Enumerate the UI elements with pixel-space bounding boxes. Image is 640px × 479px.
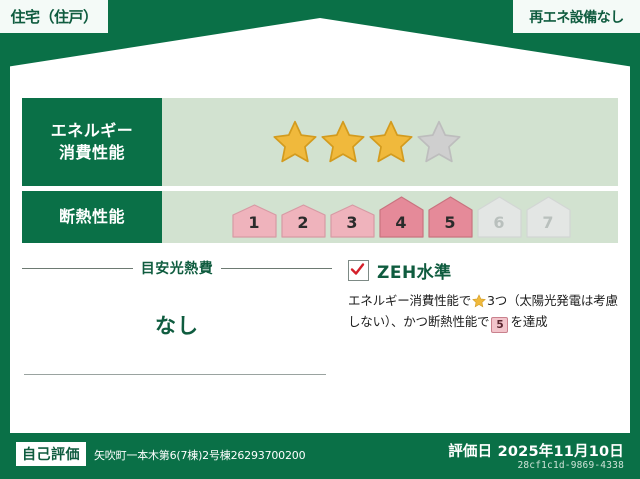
- insulation-level-5: 5: [426, 196, 474, 238]
- insulation-scale: 1234567: [230, 196, 572, 238]
- zeh-desc-level-badge: 5: [491, 317, 508, 333]
- footer: 自己評価 矢吹町一本木第6(7棟)2号棟26293700200 評価日 2025…: [0, 433, 640, 479]
- row-insulation-value: 1234567: [162, 191, 618, 243]
- zeh-block: ZEH水準 エネルギー消費性能で3つ（太陽光発電は考慮しない）、かつ断熱性能で5…: [332, 254, 618, 419]
- label-card: エネルギー 消費性能 断熱性能 1234567 目安光熱費: [10, 88, 630, 433]
- row-energy-key-line1: エネルギー: [51, 120, 134, 142]
- star-filled-icon: [368, 119, 414, 165]
- insulation-level-number: 3: [328, 213, 376, 232]
- self-evaluation-badge: 自己評価: [16, 442, 86, 466]
- row-energy-key: エネルギー 消費性能: [22, 98, 162, 186]
- badge-renewable-equipment: 再エネ設備なし: [513, 0, 640, 33]
- insulation-level-4: 4: [377, 196, 425, 238]
- zeh-heading: ZEH水準: [348, 258, 618, 283]
- star-filled-icon: [320, 119, 366, 165]
- zeh-checkbox[interactable]: [348, 260, 369, 281]
- utility-cost-divider: [24, 374, 326, 375]
- star-filled-icon: [272, 119, 318, 165]
- property-address: 矢吹町一本木第6(7棟)2号棟26293700200: [94, 447, 305, 463]
- row-insulation-performance: 断熱性能 1234567: [22, 191, 618, 243]
- row-energy-value: [162, 98, 618, 186]
- utility-cost-block: 目安光熱費 なし: [22, 254, 332, 419]
- evaluation-id: 28cf1c1d-9869-4338: [517, 460, 624, 471]
- insulation-level-number: 7: [524, 213, 572, 232]
- check-icon: [350, 262, 365, 277]
- insulation-level-number: 6: [475, 213, 523, 232]
- rule-left: [22, 268, 133, 269]
- evaluation-date: 評価日 2025年11月10日: [448, 440, 624, 461]
- insulation-level-number: 1: [230, 213, 278, 232]
- zeh-desc-part1: エネルギー消費性能で: [348, 293, 471, 308]
- utility-cost-heading: 目安光熱費: [22, 258, 332, 278]
- utility-cost-heading-label: 目安光熱費: [141, 258, 214, 278]
- rule-right: [221, 268, 332, 269]
- row-energy-performance: エネルギー 消費性能: [22, 98, 618, 186]
- energy-label-root: 住宅（住戸） 再エネ設備なし 建築物省エネ法に基づく 省エネ性能ラベル エネルギ…: [0, 0, 640, 479]
- insulation-level-6: 6: [475, 196, 523, 238]
- badge-building-type: 住宅（住戸）: [0, 0, 108, 33]
- insulation-level-3: 3: [328, 204, 376, 238]
- utility-cost-value: なし: [22, 310, 332, 340]
- insulation-level-number: 5: [426, 213, 474, 232]
- star-rating: [272, 119, 462, 165]
- inline-star-icon: [472, 294, 486, 308]
- zeh-description: エネルギー消費性能で3つ（太陽光発電は考慮しない）、かつ断熱性能で5を達成: [348, 291, 618, 333]
- insulation-level-number: 2: [279, 213, 327, 232]
- row-insulation-key: 断熱性能: [22, 191, 162, 243]
- insulation-level-2: 2: [279, 204, 327, 238]
- row-energy-key-line2: 消費性能: [59, 142, 125, 164]
- insulation-level-1: 1: [230, 204, 278, 238]
- row-insulation-key-label: 断熱性能: [59, 206, 125, 228]
- lower-section: 目安光熱費 なし ZEH水準 エネルギー消費性能で3つ（太陽光発電は考慮しな: [22, 254, 618, 419]
- insulation-level-number: 4: [377, 213, 425, 232]
- insulation-level-7: 7: [524, 196, 572, 238]
- zeh-desc-part3: を達成: [510, 314, 547, 329]
- zeh-title: ZEH水準: [377, 258, 452, 283]
- star-empty-icon: [416, 119, 462, 165]
